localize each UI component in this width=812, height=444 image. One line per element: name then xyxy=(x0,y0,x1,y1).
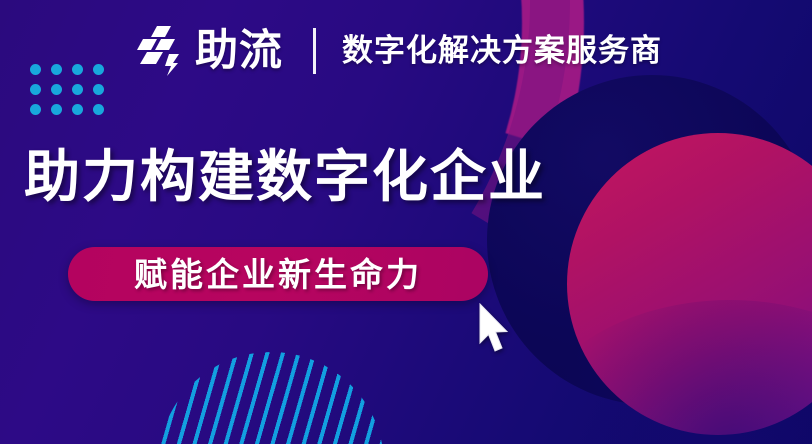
stripe-pattern xyxy=(158,352,384,444)
page-headline: 助力构建数字化企业 xyxy=(24,148,546,208)
grid-dot xyxy=(51,64,62,75)
cyan-striped-circle-icon xyxy=(158,352,384,444)
logo-wordmark: 助流 xyxy=(195,30,283,73)
magenta-circle-shape xyxy=(567,133,812,435)
grid-dot xyxy=(93,84,104,95)
grid-dot xyxy=(30,104,41,115)
grid-dot xyxy=(51,104,62,115)
brand-header: 助流 数字化解决方案服务商 xyxy=(133,20,662,82)
grid-dot xyxy=(30,64,41,75)
grid-dot xyxy=(93,104,104,115)
cyan-dot-grid-icon xyxy=(30,64,114,124)
cta-pill-label: 赋能企业新生命力 xyxy=(134,258,422,291)
grid-dot xyxy=(72,64,83,75)
grid-dot xyxy=(72,104,83,115)
promotional-banner: 助流 数字化解决方案服务商 助力构建数字化企业 赋能企业新生命力 xyxy=(0,0,812,444)
grid-dot xyxy=(72,84,83,95)
cta-pill-button[interactable]: 赋能企业新生命力 xyxy=(68,247,488,301)
grid-dot xyxy=(93,64,104,75)
navy-circle-shape xyxy=(487,75,812,405)
mouse-pointer-arrow-icon xyxy=(478,303,512,355)
header-divider xyxy=(313,28,316,74)
brand-tagline: 数字化解决方案服务商 xyxy=(342,36,662,67)
grid-dot xyxy=(30,84,41,95)
grid-dot xyxy=(51,84,62,95)
zhuliu-logo-icon xyxy=(133,23,189,79)
bottom-right-vignette xyxy=(520,300,812,444)
